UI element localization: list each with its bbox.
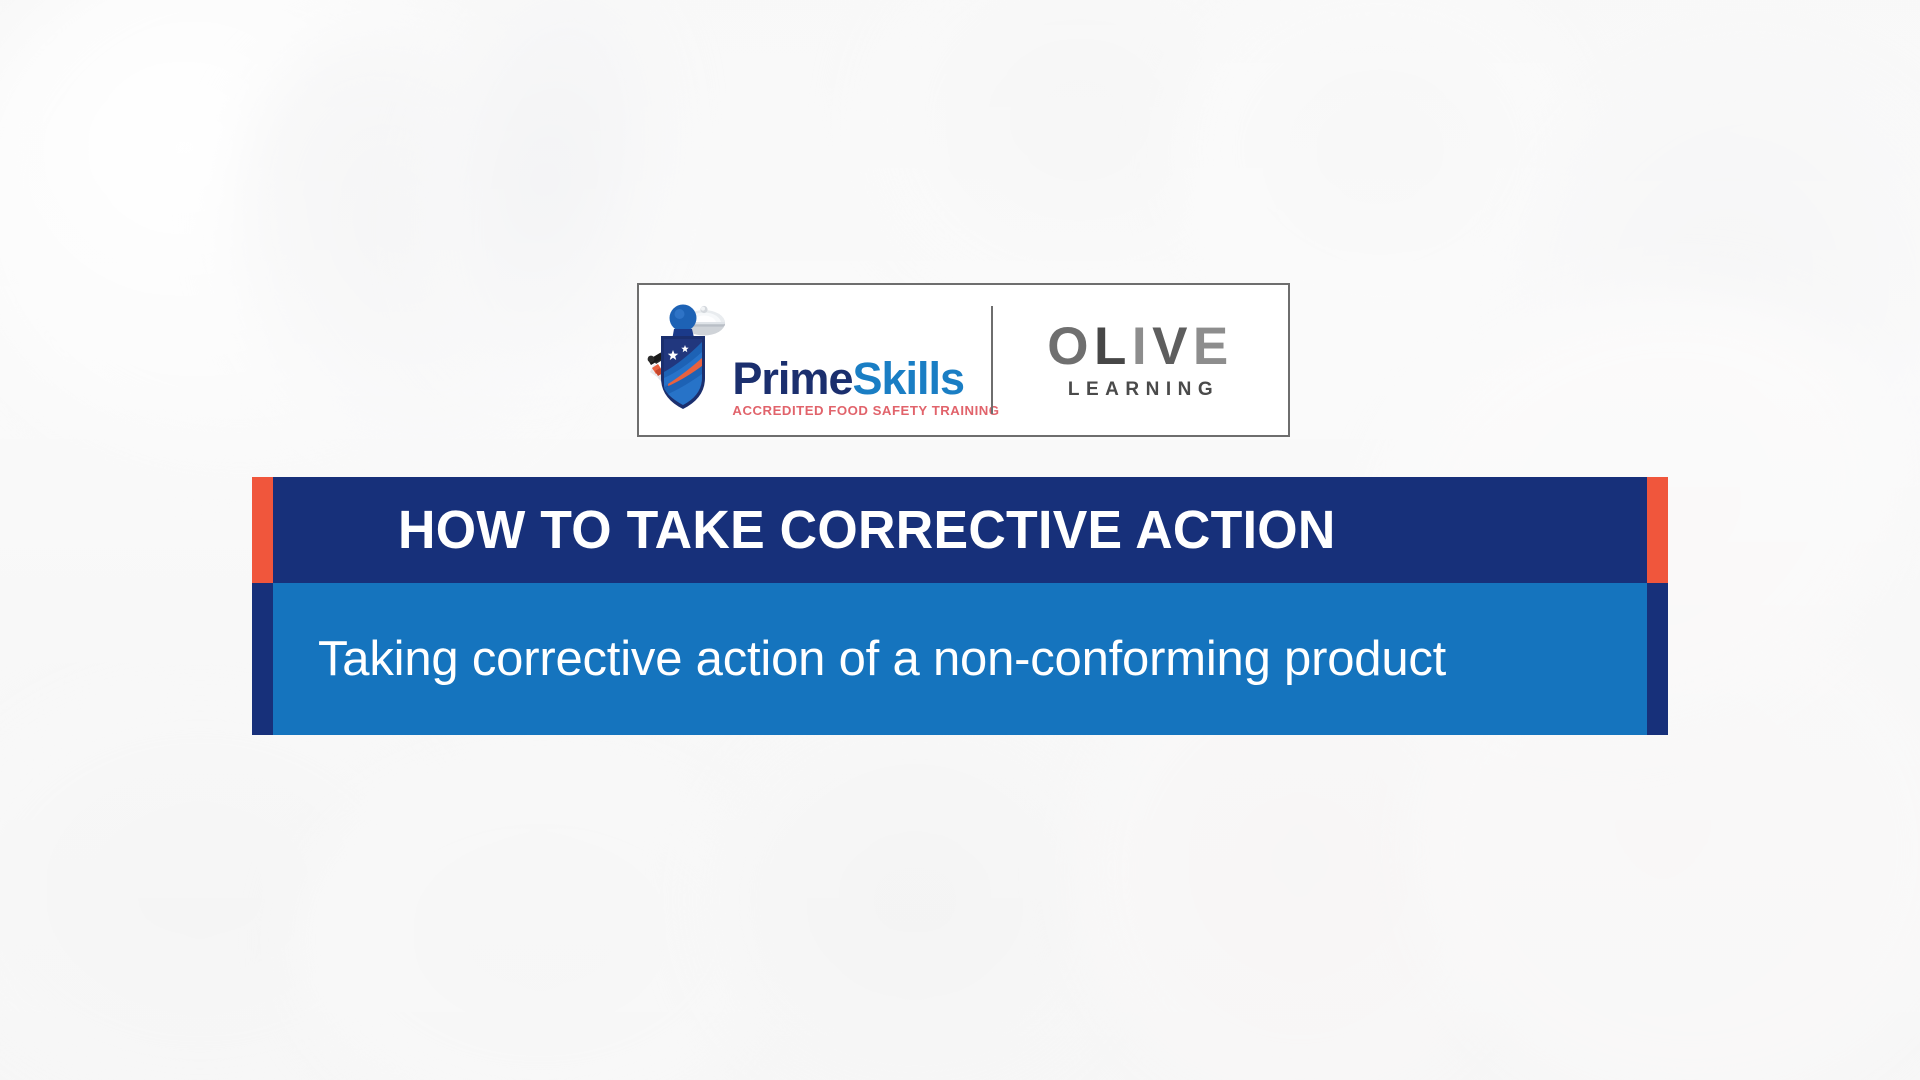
background-shape: [870, 0, 1290, 310]
primeskills-wordmark-skills: Skills: [852, 353, 964, 404]
olive-wordmark: OLIVE: [1047, 320, 1234, 373]
title-accent-left: [252, 477, 273, 583]
primeskills-wordmark: PrimeSkills: [732, 358, 964, 401]
subtitle-accent-right: [1647, 583, 1668, 735]
background-shape: [0, 680, 460, 1080]
subtitle-accent-left: [252, 583, 273, 735]
subtitle-band: Taking corrective action of a non-confor…: [252, 583, 1668, 735]
background-shape: [300, 760, 780, 1080]
page-title: HOW TO TAKE CORRECTIVE ACTION: [398, 499, 1336, 561]
background-shape: [700, 700, 1130, 1080]
primeskills-shield-icon: [638, 302, 730, 414]
background-shape: [1520, 60, 1920, 540]
title-accent-right: [1647, 477, 1668, 583]
olive-learning-subtitle: LEARNING: [1062, 379, 1219, 401]
page-subtitle: Taking corrective action of a non-confor…: [318, 631, 1446, 687]
logo-lockup: PrimeSkills ACCREDITED FOOD SAFETY TRAIN…: [637, 283, 1290, 437]
background-shape: [187, 0, 623, 497]
olive-learning-logo: OLIVE LEARNING: [993, 285, 1288, 435]
primeskills-wordmark-prime: Prime: [732, 353, 852, 404]
primeskills-logo: PrimeSkills ACCREDITED FOOD SAFETY TRAIN…: [639, 285, 991, 435]
background-shape: [0, 0, 520, 460]
title-band-body: HOW TO TAKE CORRECTIVE ACTION: [273, 477, 1647, 583]
title-band: HOW TO TAKE CORRECTIVE ACTION: [252, 477, 1668, 583]
primeskills-tagline: ACCREDITED FOOD SAFETY TRAINING: [732, 403, 999, 418]
background-shape: [1180, 0, 1580, 330]
subtitle-band-body: Taking corrective action of a non-confor…: [273, 583, 1647, 735]
